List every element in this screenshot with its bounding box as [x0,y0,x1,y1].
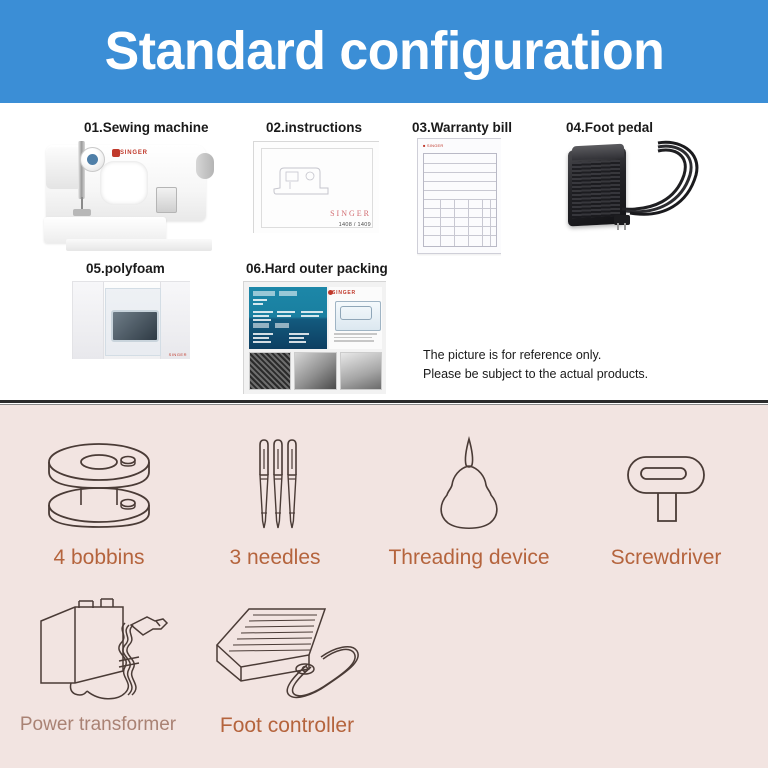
package-contents-section: 01.Sewing machine SINGER 02.instructions [0,103,768,402]
item-label-sewing-machine: 01.Sewing machine [84,120,209,135]
box-thumbnail-2 [294,352,336,390]
pedal-cable [614,139,728,239]
box-white-panel: SINGER [329,287,382,349]
foam-brand-logo: SINGER [169,352,187,357]
page-title: Standard configuration [104,24,664,80]
item-label-foot-pedal: 04.Foot pedal [566,120,653,135]
manual-brand-logo: SINGER [330,209,371,218]
accessory-threader: Threading device [366,435,572,568]
accessory-label-bobbins: 4 bobbins [14,547,184,568]
bobbin-icon [38,435,160,531]
accessory-power-transformer: Power transformer [6,597,190,734]
screwdriver-icon [611,435,721,531]
foot-controller-icon [197,597,377,705]
carton-box-photo: SINGER [243,281,386,394]
accessory-screwdriver: Screwdriver [576,435,756,568]
item-label-hard-outer-packing: 06.Hard outer packing [246,261,388,276]
accessory-label-foot-controller: Foot controller [196,715,378,736]
sewing-machine-photo: SINGER [28,135,228,255]
instruction-manual-photo: SINGER 1408 / 1409 [253,141,379,233]
accessory-bobbins: 4 bobbins [14,435,184,568]
product-spec-sheet: Standard configuration 01.Sewing machine… [0,0,768,768]
power-transformer-icon [13,597,183,705]
header-banner: Standard configuration [0,0,768,103]
box-brand-logo: SINGER [332,290,356,296]
accessories-section: 4 bobbins [0,405,768,768]
disclaimer-line-1: The picture is for reference only. [423,346,601,365]
accessory-label-threader: Threading device [366,547,572,568]
threader-icon [426,435,512,531]
disclaimer-line-2: Please be subject to the actual products… [423,365,648,384]
accessory-foot-controller: Foot controller [196,597,378,736]
warranty-bill-photo: ■ SINGER [417,138,501,256]
foot-pedal-photo [558,135,728,247]
manual-model-number: 1408 / 1409 [339,222,371,228]
item-label-instructions: 02.instructions [266,120,362,135]
accessory-label-power-transformer: Power transformer [6,715,190,734]
item-label-polyfoam: 05.polyfoam [86,261,165,276]
accessory-needles: 3 needles [200,435,350,568]
accessory-label-needles: 3 needles [200,547,350,568]
machine-brand-logo: SINGER [120,150,148,156]
manual-machine-line-art [270,158,340,204]
box-thumbnail-1 [249,352,291,390]
box-thumbnail-3 [340,352,382,390]
box-teal-panel [249,287,327,349]
section-divider [0,400,768,403]
accessory-label-screwdriver: Screwdriver [576,547,756,568]
box-thumbnail-row [249,352,382,390]
warranty-header-text: ■ SINGER [423,143,443,148]
item-label-warranty-bill: 03.Warranty bill [412,120,512,135]
needle-icon [230,435,320,531]
polyfoam-photo: SINGER [72,281,190,359]
